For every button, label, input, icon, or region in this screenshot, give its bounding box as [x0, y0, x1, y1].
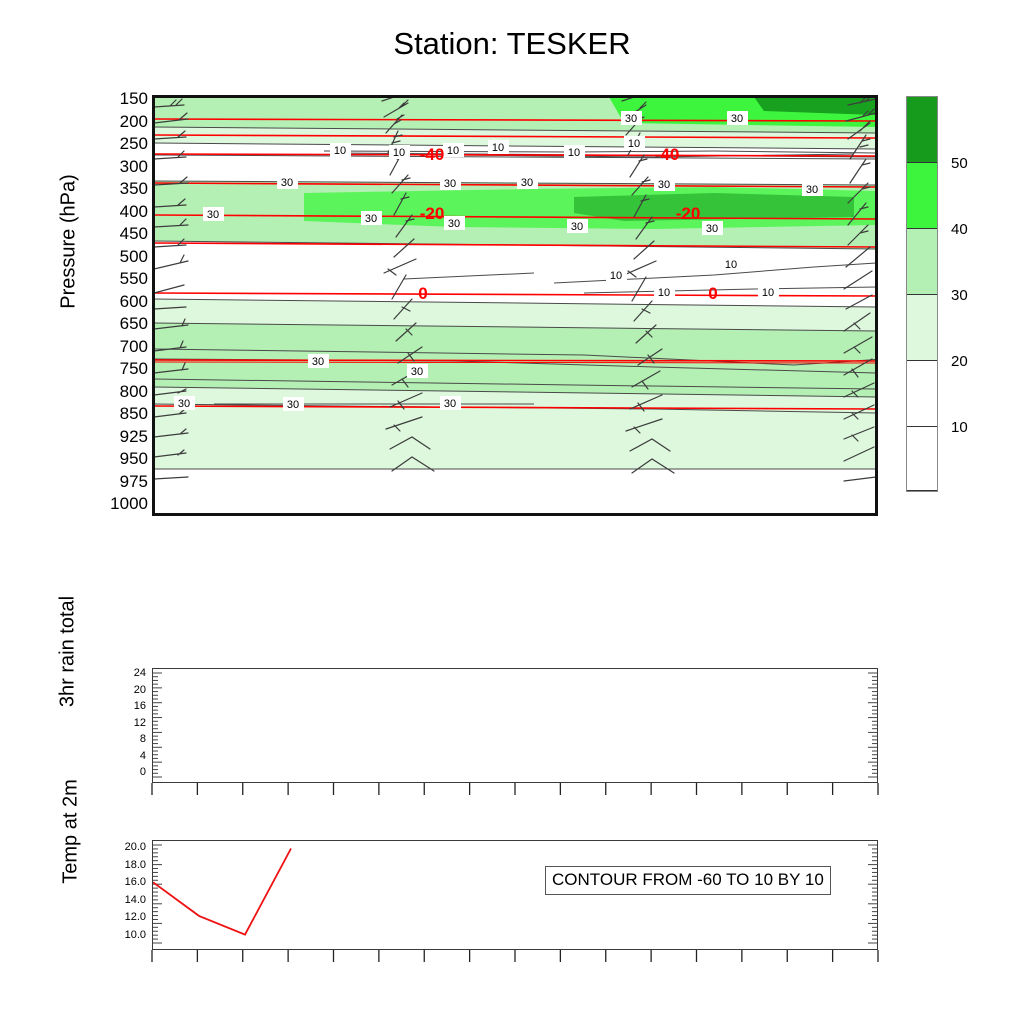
pressure-tick-700: 700: [60, 338, 148, 355]
wind-contour-label: 30: [312, 356, 324, 368]
pressure-tick-200: 200: [60, 113, 148, 130]
wind-contour-label: 30: [706, 223, 718, 235]
wind-speed-colorbar[interactable]: 5040302010: [906, 96, 938, 492]
pressure-tick-850: 850: [60, 405, 148, 422]
rain-tick-4: 4: [96, 751, 146, 762]
temp-tick-20.0: 20.0: [92, 842, 146, 853]
colorbar-label-20: 20: [951, 353, 968, 370]
wind-contour-label: 30: [731, 113, 743, 125]
wind-contour-label: 30: [444, 178, 456, 190]
isotherm-label: -40: [420, 145, 445, 164]
wind-contour-label: 10: [334, 145, 346, 157]
rain-tick-12: 12: [96, 718, 146, 729]
pressure-tick-800: 800: [60, 383, 148, 400]
temp-axis-labels: 20.018.016.014.012.010.0: [92, 840, 146, 950]
colorbar-band-3: [907, 295, 937, 361]
wind-contour-label: 30: [178, 398, 190, 410]
temp-tick-12.0: 12.0: [92, 912, 146, 923]
pressure-tick-650: 650: [60, 315, 148, 332]
wind-contour-label: 30: [287, 399, 299, 411]
wind-contour-label: 10: [725, 259, 737, 271]
pressure-tick-150: 150: [60, 90, 148, 107]
pressure-tick-350: 350: [60, 180, 148, 197]
wind-contour-label: 30: [806, 184, 818, 196]
pressure-tick-1000: 1000: [60, 495, 148, 512]
temp-plot-svg: [153, 841, 877, 949]
temp-tick-18.0: 18.0: [92, 860, 146, 871]
pressure-tick-750: 750: [60, 360, 148, 377]
page-title: Station: TESKER: [0, 26, 1024, 62]
wind-contour-label: 10: [762, 287, 774, 299]
cross-section-plot[interactable]: 1010101010103030303030303030303030301010…: [152, 95, 878, 516]
isotherm-label: -20: [676, 204, 701, 223]
rain-tick-8: 8: [96, 734, 146, 745]
isotherm-label: -40: [655, 145, 680, 164]
rain-tick-20: 20: [96, 685, 146, 696]
temp-axis-title: Temp at 2m: [60, 752, 83, 912]
wind-contour-label: 30: [521, 177, 533, 189]
wind-contour-label: 10: [393, 147, 405, 159]
pressure-tick-500: 500: [60, 248, 148, 265]
colorbar-band-5: [907, 427, 937, 491]
wind-contour-label: 30: [444, 398, 456, 410]
colorbar-band-4: [907, 361, 937, 427]
colorbar-label-50: 50: [951, 155, 968, 172]
rain-tick-16: 16: [96, 701, 146, 712]
colorbar-label-30: 30: [951, 287, 968, 304]
rain-tick-24: 24: [96, 668, 146, 679]
wind-contour-label: 30: [658, 179, 670, 191]
wind-contour-label: 10: [568, 147, 580, 159]
temp-tick-14.0: 14.0: [92, 895, 146, 906]
rain-total-plot[interactable]: [152, 668, 878, 783]
colorbar-band-1: [907, 163, 937, 229]
pressure-tick-400: 400: [60, 203, 148, 220]
rain-plot-svg: [153, 669, 877, 782]
colorbar-label-10: 10: [951, 419, 968, 436]
wind-contour-label: 30: [411, 366, 423, 378]
wind-contour-label: 30: [571, 221, 583, 233]
rain-tick-0: 0: [96, 767, 146, 778]
pressure-tick-450: 450: [60, 225, 148, 242]
pressure-tick-975: 975: [60, 473, 148, 490]
cross-section-svg: 1010101010103030303030303030303030301010…: [154, 97, 876, 514]
pressure-tick-950: 950: [60, 450, 148, 467]
temp-tick-10.0: 10.0: [92, 930, 146, 941]
wind-contour-label: 30: [207, 209, 219, 221]
wind-contour-label: 30: [625, 113, 637, 125]
isotherm-label: 0: [418, 284, 427, 303]
pressure-tick-600: 600: [60, 293, 148, 310]
pressure-tick-925: 925: [60, 428, 148, 445]
temp-tick-16.0: 16.0: [92, 877, 146, 888]
wind-contour-label: 10: [658, 287, 670, 299]
pressure-tick-250: 250: [60, 135, 148, 152]
isotherm-label: 0: [708, 284, 717, 303]
pressure-axis-labels: 1502002503003504004505005506006507007508…: [60, 95, 148, 516]
wind-contour-label: 10: [628, 138, 640, 150]
temp-series-line: [153, 849, 291, 935]
colorbar-band-2: [907, 229, 937, 295]
contour-note-box: CONTOUR FROM -60 TO 10 BY 10: [545, 866, 831, 895]
wind-contour-label: 10: [492, 142, 504, 154]
colorbar-label-40: 40: [951, 221, 968, 238]
wind-contour-label: 30: [448, 218, 460, 230]
pressure-tick-300: 300: [60, 158, 148, 175]
isotherm-label: -20: [420, 204, 445, 223]
colorbar-band-0: [907, 97, 937, 163]
rain-axis-title: 3hr rain total: [57, 567, 80, 737]
wind-contour-label: 10: [610, 270, 622, 282]
temp-2m-plot[interactable]: [152, 840, 878, 950]
rain-axis-labels: 24201612840: [96, 668, 146, 783]
wind-contour-label: 30: [281, 177, 293, 189]
wind-contour-label: 30: [365, 213, 377, 225]
weather-cross-section-page: Station: TESKER Pressure (hPa) 150200250…: [0, 0, 1024, 1024]
pressure-tick-550: 550: [60, 270, 148, 287]
